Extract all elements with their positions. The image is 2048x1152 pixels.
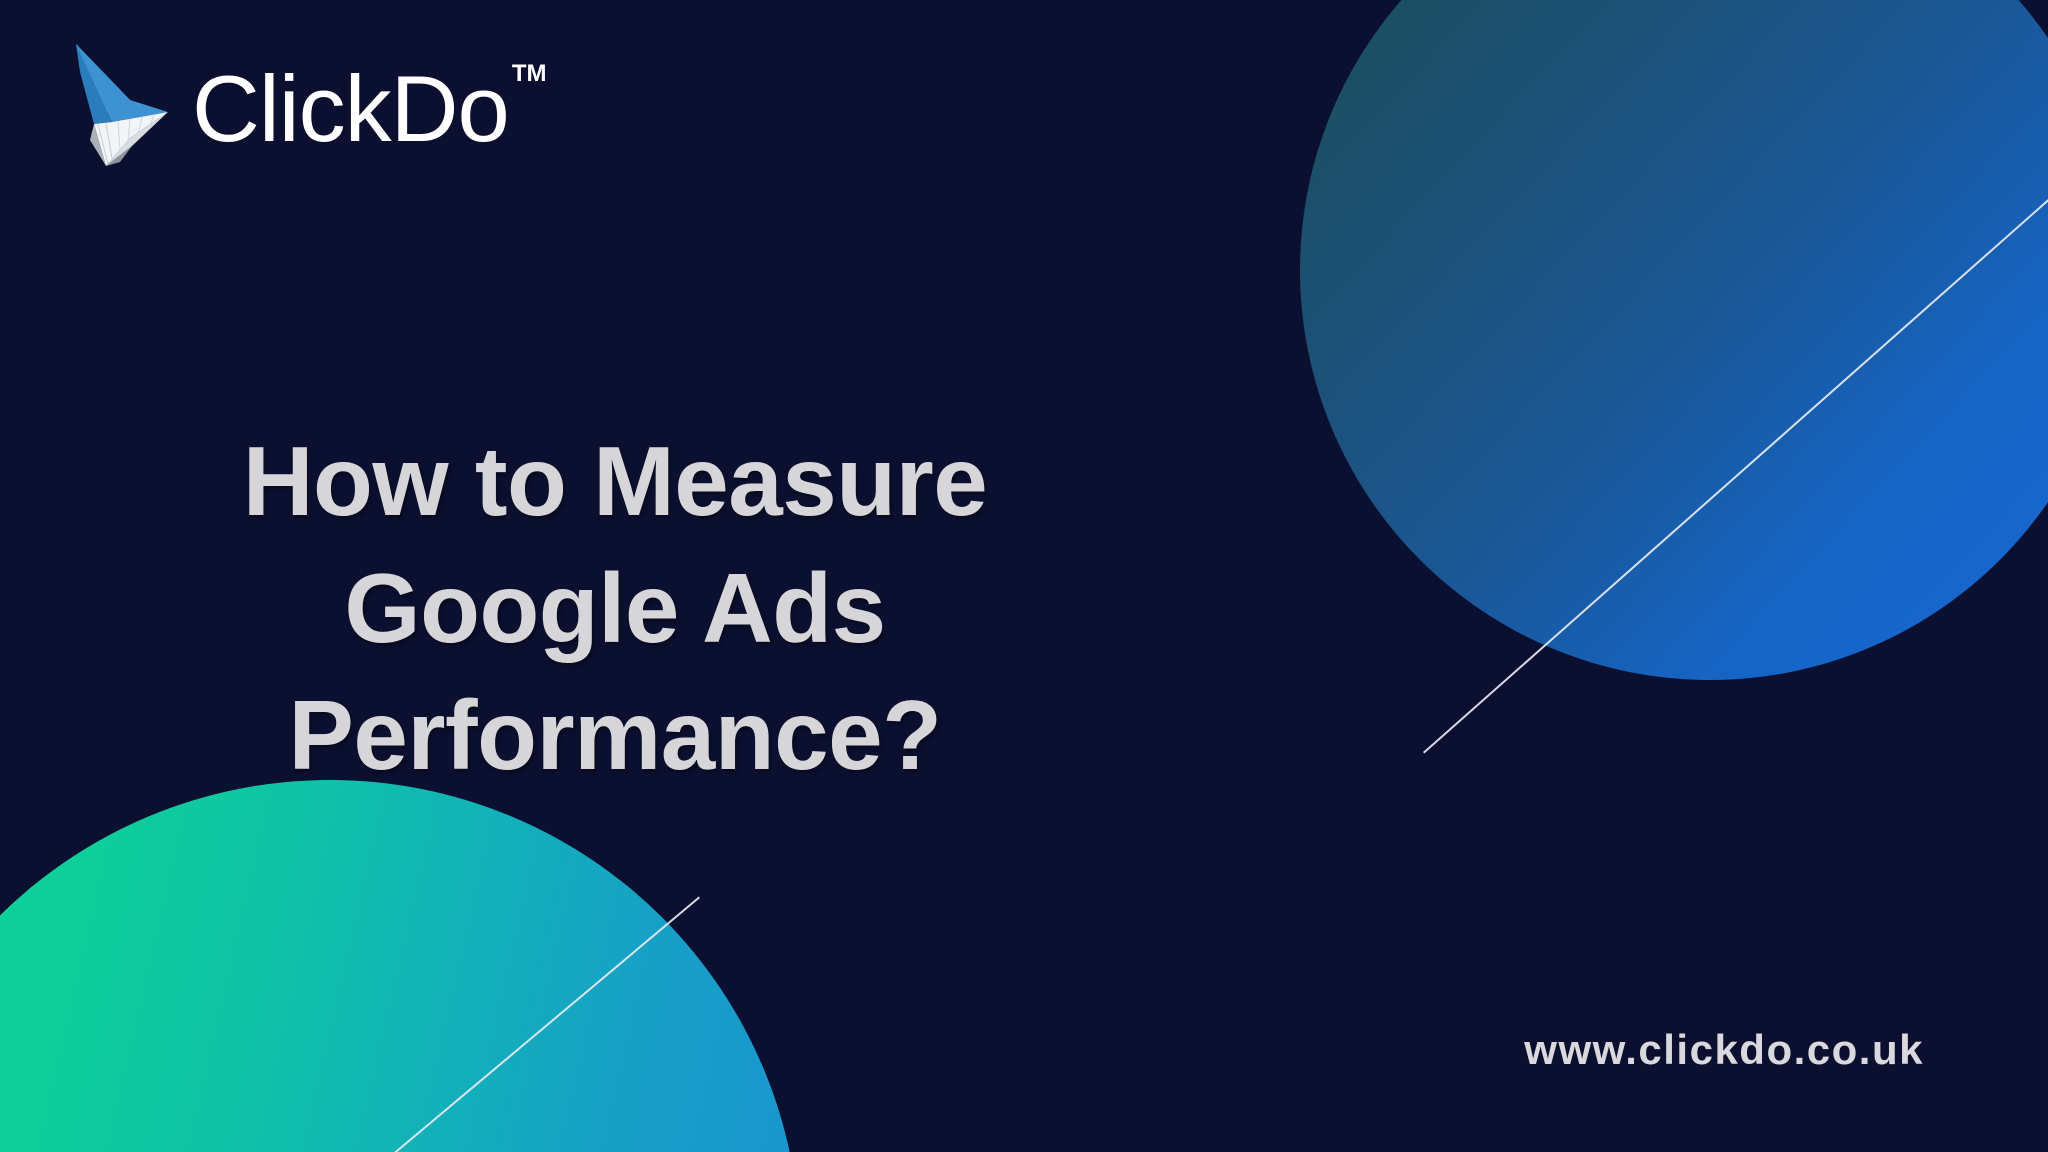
page-title-line-1: How to Measure bbox=[0, 418, 1230, 545]
blue-gradient-circle bbox=[1300, 0, 2048, 680]
website-url[interactable]: www.clickdo.co.uk bbox=[1524, 1026, 1924, 1074]
clickdo-arrow-logo-mark-icon bbox=[72, 38, 176, 168]
slide-canvas: ClickDo TM How to Measure Google Ads Per… bbox=[0, 0, 2048, 1152]
brand-wordmark: ClickDo TM bbox=[192, 38, 546, 168]
page-title-line-2: Google Ads bbox=[0, 545, 1230, 672]
trademark-symbol: TM bbox=[512, 60, 547, 88]
page-title-line-3: Performance? bbox=[0, 672, 1230, 799]
brand-logo[interactable]: ClickDo TM bbox=[72, 38, 546, 168]
brand-name: ClickDo bbox=[192, 62, 509, 156]
green-gradient-circle bbox=[0, 780, 800, 1152]
page-title: How to Measure Google Ads Performance? bbox=[0, 418, 1230, 800]
